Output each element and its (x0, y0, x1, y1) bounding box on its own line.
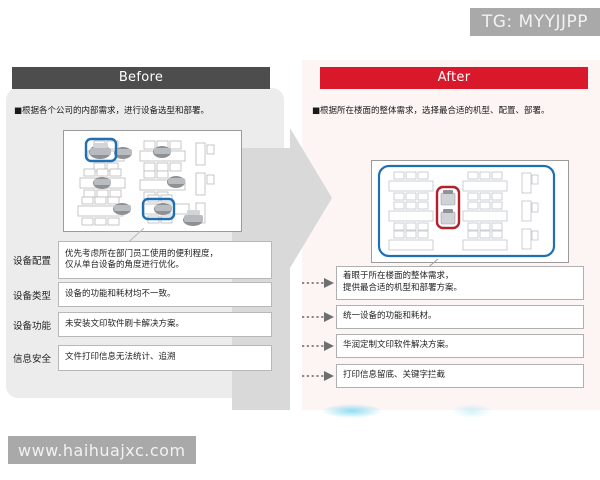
after-floorplan (371, 160, 569, 263)
before-header: Before (12, 67, 270, 89)
printer-icon (153, 146, 171, 158)
printer-icon (154, 203, 172, 215)
before-row-0-line-0: 优先考虑所在部门员工使用的便利程度， (65, 249, 265, 260)
cyan-artifact (322, 404, 382, 418)
after-row-2-line-0: 华润定制文印软件解决方案。 (343, 340, 577, 352)
before-row-3: 信息安全 文件打印信息无法统计、追溯 (6, 345, 278, 371)
dotted-arrow-icon (300, 339, 336, 353)
after-row-1: 统一设备的功能和耗材。 (300, 305, 590, 329)
site-watermark: www.haihuajxc.com (8, 436, 196, 464)
after-floorplan-graphic (372, 161, 568, 262)
printer-icon (113, 203, 131, 215)
before-row-1-line-0: 设备的功能和耗材均不一致。 (65, 289, 265, 300)
telegram-watermark: TG: MYYJJPP (470, 8, 600, 36)
after-row-0-box: 着眼于所在楼面的整体需求， 提供最合适的机型和部署方案。 (336, 266, 584, 300)
before-lead-text: ■根据各个公司的内部需求，进行设备选型和部署。 (14, 104, 209, 116)
after-lead-text: ■根据所在楼面的整体需求，选择最合适的机型、配置、部署。 (312, 104, 550, 116)
before-row-0-box: 优先考虑所在部门员工使用的便利程度， 仅从单台设备的角度进行优化。 (58, 241, 272, 279)
before-row-0-label: 设备配置 (6, 241, 58, 279)
after-row-0-line-1: 提供最合适的机型和部署方案。 (343, 283, 577, 295)
after-row-1-box: 统一设备的功能和耗材。 (336, 305, 584, 329)
after-header: After (320, 67, 588, 89)
before-row-3-box: 文件打印信息无法统计、追溯 (58, 345, 272, 371)
before-row-3-label: 信息安全 (6, 345, 58, 371)
printer-icon (441, 190, 455, 205)
before-row-1: 设备类型 设备的功能和耗材均不一致。 (6, 282, 278, 307)
after-row-0: 着眼于所在楼面的整体需求， 提供最合适的机型和部署方案。 (300, 266, 590, 300)
before-row-1-box: 设备的功能和耗材均不一致。 (58, 282, 272, 307)
after-row-0-line-0: 着眼于所在楼面的整体需求， (343, 271, 577, 283)
before-row-2: 设备功能 未安装文印软件刷卡解决方案。 (6, 312, 278, 337)
before-floorplan-graphic (64, 131, 241, 231)
before-row-2-label: 设备功能 (6, 312, 58, 337)
before-row-3-line-0: 文件打印信息无法统计、追溯 (65, 352, 265, 363)
after-row-3-box: 打印信息留底、关键字拦截 (336, 364, 584, 388)
after-row-2-box: 华润定制文印软件解决方案。 (336, 334, 584, 358)
cyan-artifact-secondary (452, 404, 492, 418)
after-row-2: 华润定制文印软件解决方案。 (300, 334, 590, 358)
dotted-arrow-icon (300, 310, 336, 324)
printer-icon (93, 177, 111, 189)
dotted-arrow-icon (300, 276, 336, 290)
after-row-3-line-0: 打印信息留底、关键字拦截 (343, 370, 577, 382)
before-floorplan (63, 130, 242, 232)
printer-icon (441, 209, 455, 224)
after-row-3: 打印信息留底、关键字拦截 (300, 364, 590, 388)
after-row-1-line-0: 统一设备的功能和耗材。 (343, 311, 577, 323)
printer-icon (167, 176, 185, 188)
before-row-2-line-0: 未安装文印软件刷卡解决方案。 (65, 319, 265, 330)
before-row-0-line-1: 仅从单台设备的角度进行优化。 (65, 260, 265, 271)
dotted-arrow-icon (300, 369, 336, 383)
before-row-2-box: 未安装文印软件刷卡解决方案。 (58, 312, 272, 337)
before-row-1-label: 设备类型 (6, 282, 58, 307)
before-row-0: 设备配置 优先考虑所在部门员工使用的便利程度， 仅从单台设备的角度进行优化。 (6, 241, 278, 279)
slide-canvas: Before After ■根据各个公司的内部需求，进行设备选型和部署。 ■根据… (0, 0, 600, 480)
